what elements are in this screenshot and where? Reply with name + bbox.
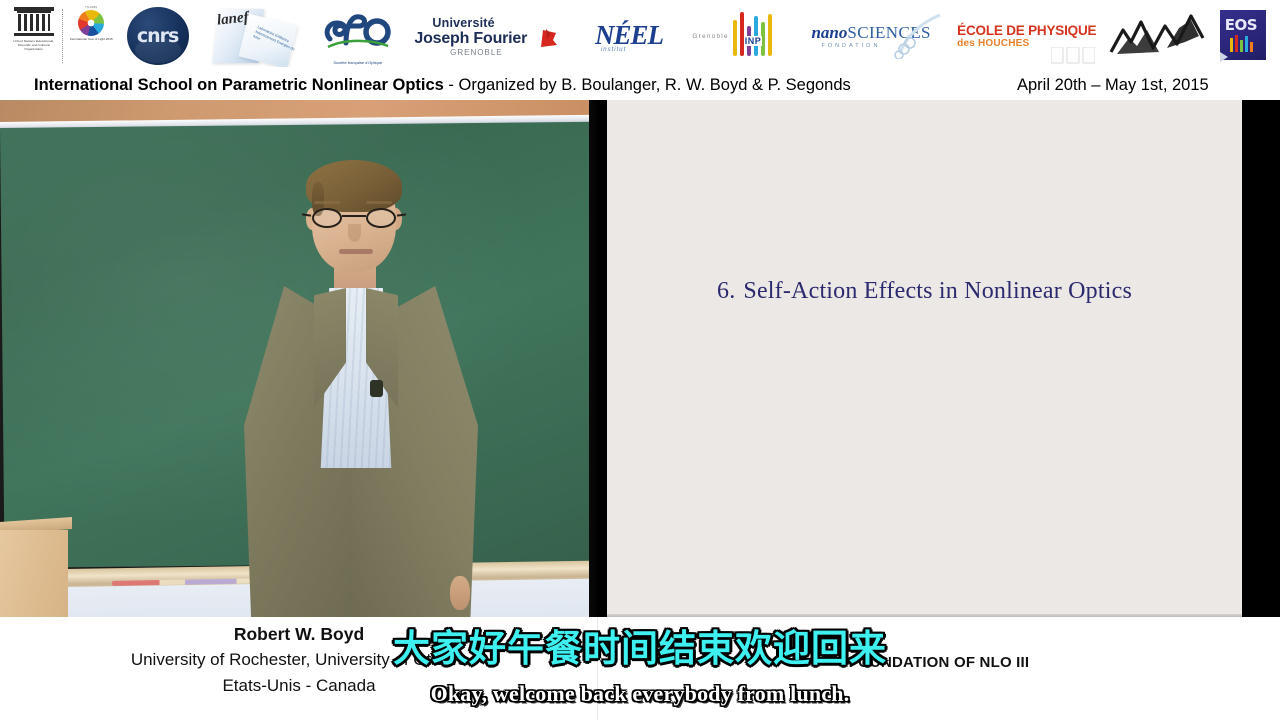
nano-word1: nano bbox=[811, 23, 847, 42]
unesco-temple-icon bbox=[12, 7, 56, 37]
lecturer-hair bbox=[306, 160, 402, 212]
unesco-caption: United Nations Educational, Scientific a… bbox=[10, 39, 57, 52]
iyl-marker: IYL2015 bbox=[68, 5, 114, 9]
inp-badge: INP bbox=[744, 36, 763, 46]
slide-heading-text: Self-Action Effects in Nonlinear Optics bbox=[743, 278, 1132, 304]
podium bbox=[0, 520, 72, 617]
ujf-logo: Université Joseph Fourier GRENOBLE bbox=[414, 5, 564, 67]
ujf-flag-icon bbox=[538, 27, 560, 49]
cnrs-wordmark: cnrs bbox=[137, 25, 178, 47]
unesco-temple-block: United Nations Educational, Scientific a… bbox=[10, 5, 57, 52]
cnrs-oval-icon: cnrs bbox=[127, 7, 189, 65]
lapel-microphone bbox=[370, 380, 383, 397]
lecturer-mouth bbox=[339, 249, 373, 254]
eos-bars-icon bbox=[1230, 34, 1254, 52]
slide-heading: 6.Self-Action Effects in Nonlinear Optic… bbox=[607, 278, 1242, 305]
eos-wordmark: EOS bbox=[1218, 16, 1264, 34]
event-dates: April 20th – May 1st, 2015 bbox=[1017, 76, 1209, 95]
eos-triangle-icon bbox=[1220, 52, 1228, 62]
video-right-border bbox=[589, 100, 598, 617]
lecturer-figure bbox=[236, 168, 486, 617]
event-title-organizers: - Organized by B. Boulanger, R. W. Boyd … bbox=[444, 76, 851, 94]
subtitle-chinese: 大家好午餐时间结束欢迎回来 bbox=[0, 628, 1280, 670]
eph-line1: ÉCOLE DE PHYSIQUE bbox=[957, 23, 1096, 38]
sfo-mark-icon bbox=[322, 9, 394, 49]
neel-wordmark: NÉEL bbox=[587, 20, 663, 51]
slide-panel[interactable]: 6.Self-Action Effects in Nonlinear Optic… bbox=[598, 100, 1280, 617]
lanef-wordmark: lanef bbox=[216, 9, 249, 29]
neel-logo: NÉEL institut bbox=[575, 5, 675, 67]
eos-logo: EOS bbox=[1218, 8, 1270, 64]
iyl-circle-icon bbox=[78, 10, 104, 36]
eph-grid-icon bbox=[1051, 47, 1095, 65]
lecture-video-panel[interactable] bbox=[0, 100, 598, 617]
sponsor-logo-bar: United Nations Educational, Scientific a… bbox=[0, 0, 1280, 72]
grenoble-prefix: Grenoble bbox=[692, 33, 728, 40]
lanef-logo: lanef Laboratoire d'Alliance Nanoscience… bbox=[201, 5, 301, 67]
event-title: International School on Parametric Nonli… bbox=[34, 76, 851, 95]
iyl-caption: International Year of Light 2015 bbox=[68, 37, 114, 41]
unesco-divider bbox=[62, 9, 63, 63]
unesco-logo: United Nations Educational, Scientific a… bbox=[10, 5, 114, 67]
cnrs-logo: cnrs bbox=[125, 5, 191, 67]
sfo-caption: Société française d'Optique bbox=[316, 60, 400, 65]
eyeglasses-icon bbox=[310, 208, 400, 228]
slide-number: 6. bbox=[717, 278, 735, 304]
page-root: United Nations Educational, Scientific a… bbox=[0, 0, 1280, 720]
slide-surface: 6.Self-Action Effects in Nonlinear Optic… bbox=[607, 100, 1242, 617]
lecturer-brow-right bbox=[366, 201, 392, 204]
event-title-bold: International School on Parametric Nonli… bbox=[34, 76, 444, 94]
lecturer-hand bbox=[450, 576, 470, 610]
event-title-bar: International School on Parametric Nonli… bbox=[0, 72, 1280, 100]
inp-bars-icon: INP bbox=[731, 12, 779, 60]
grenoble-inp-logo: Grenoble INP bbox=[686, 5, 786, 67]
nanosciences-logo: nanoSCIENCES FONDATION bbox=[796, 5, 946, 67]
mountains-logo bbox=[1107, 5, 1207, 67]
lecturer-brow-left bbox=[314, 201, 340, 204]
ecole-de-physique-logo: ÉCOLE DE PHYSIQUE des HOUCHES bbox=[957, 5, 1097, 67]
nano-swoosh-icon bbox=[890, 13, 946, 59]
mountain-sketch-icon bbox=[1107, 8, 1207, 64]
subtitle-english: Okay, welcome back everybody from lunch. bbox=[0, 681, 1280, 707]
sfo-logo: Société française d'Optique bbox=[312, 5, 404, 67]
iyl-block: IYL2015 International Year of Light 2015 bbox=[68, 5, 114, 41]
